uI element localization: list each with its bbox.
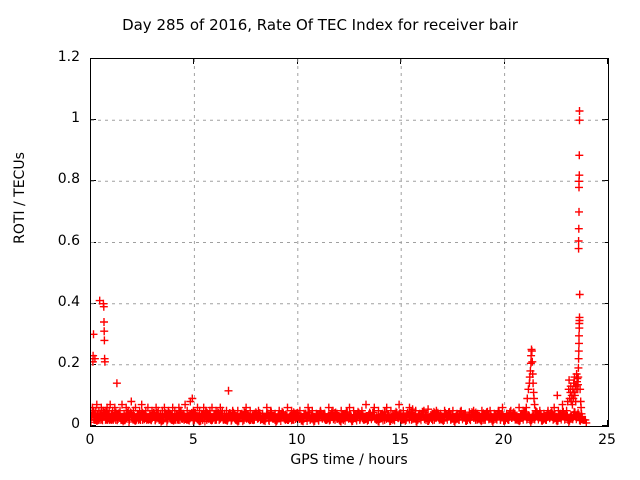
x-axis-label: GPS time / hours — [90, 452, 608, 468]
scatter-data-points — [91, 59, 608, 426]
x-tick-label: 25 — [577, 432, 637, 448]
y-tick-label: 0.4 — [10, 294, 80, 310]
x-tick-label: 20 — [474, 432, 534, 448]
x-tick-label: 5 — [163, 432, 223, 448]
y-tick-label: 0.8 — [10, 171, 80, 187]
y-tick-label: 1 — [10, 110, 80, 126]
x-tick-label: 15 — [370, 432, 430, 448]
chart-container: Day 285 of 2016, Rate Of TEC Index for r… — [0, 0, 640, 480]
chart-title: Day 285 of 2016, Rate Of TEC Index for r… — [0, 16, 640, 34]
y-axis-label: ROTI / TECUs — [12, 118, 28, 278]
y-tick-label: 0.6 — [10, 233, 80, 249]
plot-frame — [90, 58, 609, 427]
x-tick-label: 0 — [60, 432, 120, 448]
y-tick-label: 0 — [10, 416, 80, 432]
y-tick-label: 0.2 — [10, 355, 80, 371]
y-tick-label: 1.2 — [10, 49, 80, 65]
x-tick-label: 10 — [267, 432, 327, 448]
